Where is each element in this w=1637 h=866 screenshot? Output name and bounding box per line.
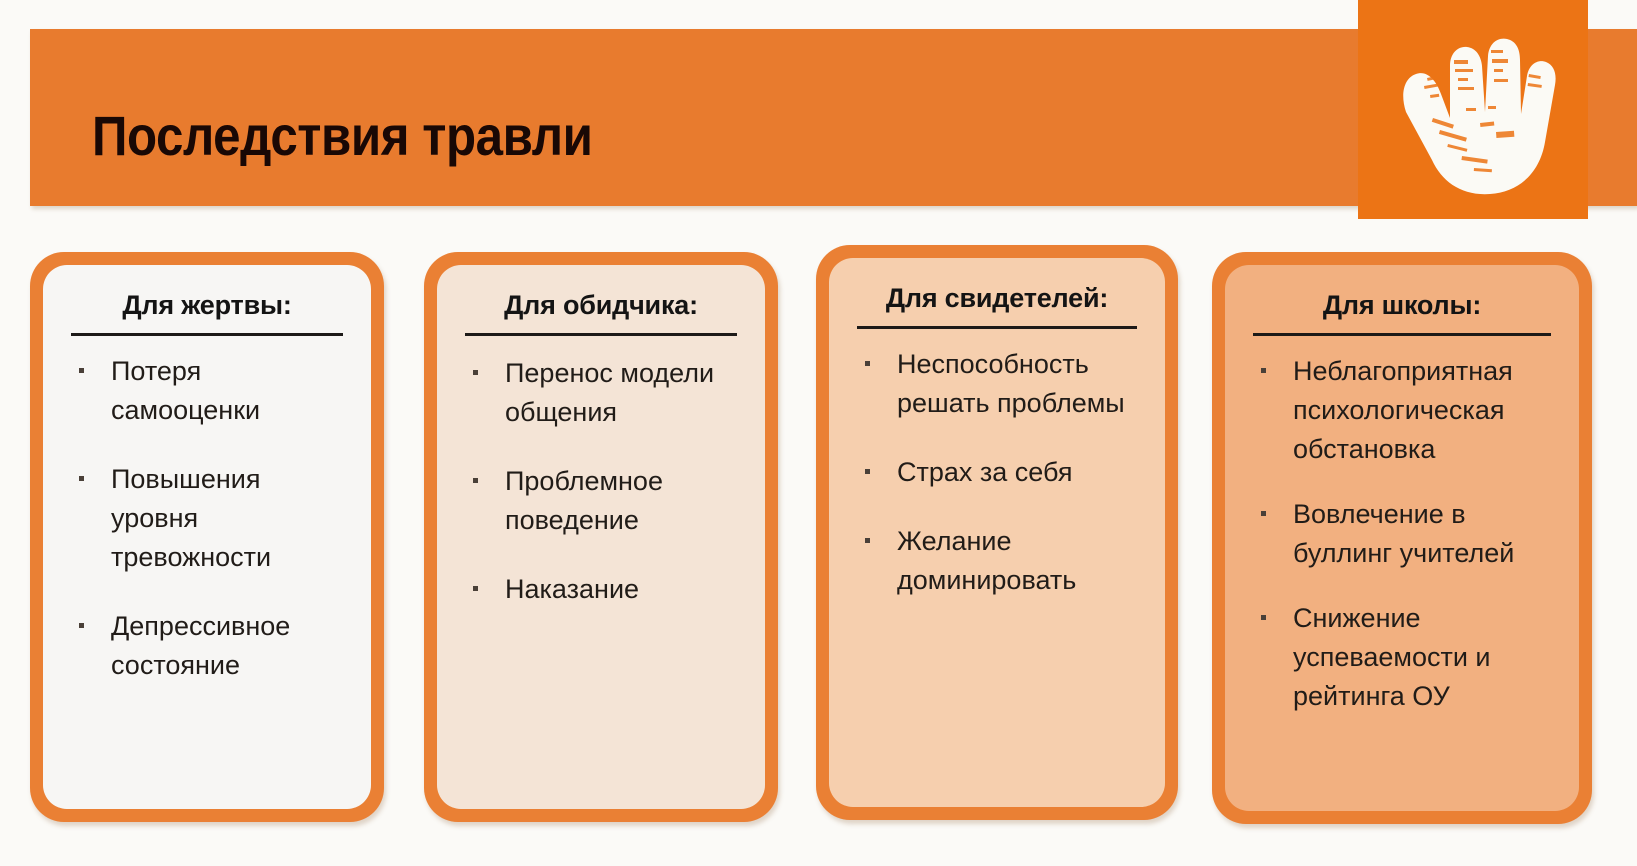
card-inner: Для школы: Неблагоприятная психологическ… <box>1225 265 1579 811</box>
list-item: Депрессивное состояние <box>65 607 349 685</box>
bullet-list: Неспособность решать проблемы Страх за с… <box>851 329 1143 600</box>
list-item: Проблемное поведение <box>459 462 743 540</box>
bullet-text: Наказание <box>505 574 639 604</box>
bullet-text: Снижение успеваемости и рейтинга ОУ <box>1293 603 1491 711</box>
list-item: Перенос модели общения <box>459 354 743 432</box>
logo-block <box>1358 0 1588 219</box>
slide-canvas: Последствия травли <box>0 0 1637 866</box>
bullet-dot-icon <box>473 370 478 375</box>
bullet-dot-icon <box>79 368 84 373</box>
bullet-text: Вовлечение в буллинг учителей <box>1293 499 1514 568</box>
list-item: Желание доминировать <box>851 522 1143 600</box>
bullet-dot-icon <box>1261 368 1266 373</box>
bullet-dot-icon <box>865 469 870 474</box>
bullet-dot-icon <box>865 361 870 366</box>
bullet-dot-icon <box>1261 615 1266 620</box>
open-hand-icon <box>1370 8 1576 214</box>
consequence-card-witnesses[interactable]: Для свидетелей: Неспособность решать про… <box>816 245 1178 820</box>
list-item: Наказание <box>459 570 743 609</box>
card-title: Для свидетелей: <box>851 282 1143 314</box>
bullet-dot-icon <box>865 538 870 543</box>
card-inner: Для обидчика: Перенос модели общения Про… <box>437 265 765 809</box>
list-item: Потеря самооценки <box>65 352 349 430</box>
list-item: Страх за себя <box>851 453 1143 492</box>
bullet-list: Потеря самооценки Повышения уровня трево… <box>65 336 349 685</box>
bullet-text: Перенос модели общения <box>505 358 714 427</box>
bullet-list: Неблагоприятная психологическая обстанов… <box>1247 336 1557 716</box>
bullet-text: Проблемное поведение <box>505 466 663 535</box>
bullet-dot-icon <box>79 476 84 481</box>
page-title: Последствия травли <box>92 105 593 167</box>
list-item: Вовлечение в буллинг учителей <box>1247 495 1557 573</box>
bullet-text: Страх за себя <box>897 457 1073 487</box>
bullet-dot-icon <box>1261 511 1266 516</box>
card-title: Для жертвы: <box>65 289 349 321</box>
bullet-list: Перенос модели общения Проблемное поведе… <box>459 336 743 609</box>
list-item: Повышения уровня тревожности <box>65 460 349 577</box>
list-item: Неблагоприятная психологическая обстанов… <box>1247 352 1557 469</box>
consequence-card-victim[interactable]: Для жертвы: Потеря самооценки Повышения … <box>30 252 384 822</box>
bullet-text: Неблагоприятная психологическая обстанов… <box>1293 356 1513 464</box>
list-item: Неспособность решать проблемы <box>851 345 1143 423</box>
list-item: Снижение успеваемости и рейтинга ОУ <box>1247 599 1557 716</box>
bullet-dot-icon <box>79 623 84 628</box>
bullet-text: Неспособность решать проблемы <box>897 349 1125 418</box>
bullet-text: Повышения уровня тревожности <box>111 464 271 572</box>
card-title: Для обидчика: <box>459 289 743 321</box>
bullet-dot-icon <box>473 478 478 483</box>
consequence-card-offender[interactable]: Для обидчика: Перенос модели общения Про… <box>424 252 778 822</box>
bullet-text: Депрессивное состояние <box>111 611 290 680</box>
card-title: Для школы: <box>1247 289 1557 321</box>
bullet-dot-icon <box>473 586 478 591</box>
consequence-card-school[interactable]: Для школы: Неблагоприятная психологическ… <box>1212 252 1592 824</box>
card-inner: Для жертвы: Потеря самооценки Повышения … <box>43 265 371 809</box>
bullet-text: Потеря самооценки <box>111 356 260 425</box>
bullet-text: Желание доминировать <box>897 526 1076 595</box>
card-inner: Для свидетелей: Неспособность решать про… <box>829 258 1165 807</box>
